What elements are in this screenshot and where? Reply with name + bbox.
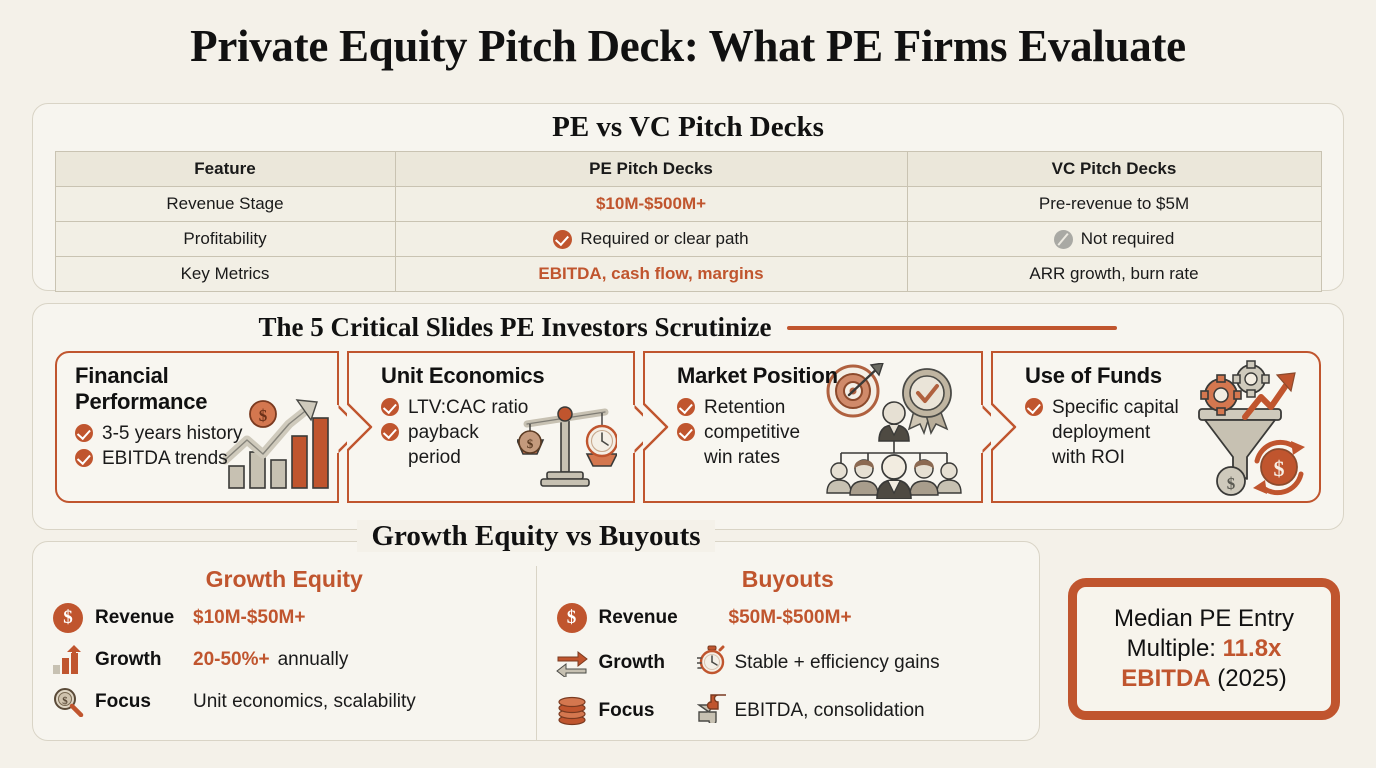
- card-bullet-label: LTV:CAC ratio: [408, 396, 528, 419]
- slide-card-market-position[interactable]: Market Position Retention competitive wi…: [643, 351, 983, 503]
- cell-pe: EBITDA, cash flow, margins: [395, 257, 907, 292]
- metric-row-focus: Focus EBITDA, consolidation: [555, 693, 1022, 729]
- cell-pe-text: $10M-$500M+: [596, 194, 706, 213]
- card-bullet-label: period: [408, 446, 461, 469]
- growth-vs-buyouts-panel: Growth Equity vs Buyouts Growth Equity $…: [32, 541, 1040, 741]
- check-circle-icon: [1025, 398, 1043, 416]
- coin-stack-icon: [555, 696, 589, 726]
- svg-text:$: $: [1227, 474, 1236, 493]
- callout-year: (2025): [1211, 665, 1287, 692]
- metric-row-revenue: $ Revenue $50M-$500M+: [555, 603, 1022, 633]
- cell-vc-text: Not required: [1081, 229, 1175, 249]
- card-bullet-label: win rates: [704, 446, 780, 469]
- metric-row-growth: Growth: [555, 645, 1022, 681]
- card-bullet: EBITDA trends: [75, 447, 275, 470]
- table-row: Profitability Required or clear path Not…: [55, 222, 1321, 257]
- card-bullet: Specific capital: [1025, 396, 1225, 419]
- check-circle-icon: [381, 423, 399, 441]
- callout-line2-prefix: Multiple:: [1127, 635, 1223, 662]
- metric-value: Unit economics, scalability: [193, 691, 416, 713]
- table-header-row: Feature PE Pitch Decks VC Pitch Decks: [55, 152, 1321, 187]
- card-bullet-label: with ROI: [1052, 446, 1125, 469]
- card-bullet-cont: deployment: [1025, 421, 1225, 444]
- cell-vc: Pre-revenue to $5M: [907, 187, 1321, 222]
- svg-text:$: $: [62, 695, 68, 707]
- card-bullet-label: deployment: [1052, 421, 1150, 444]
- chevron-notch-icon: [347, 403, 373, 451]
- growth-equity-column: Growth Equity $ Revenue $10M-$50M+: [33, 566, 536, 740]
- magnifier-dollar-icon: $: [51, 687, 85, 717]
- puzzle-piece-icon: [697, 693, 727, 729]
- growth-vs-buyouts-heading: Growth Equity vs Buyouts: [33, 520, 1039, 553]
- slide-card-row: Financial Performance 3-5 years history …: [33, 343, 1343, 503]
- critical-slides-panel: The 5 Critical Slides PE Investors Scrut…: [32, 303, 1344, 530]
- metric-label: Revenue: [599, 607, 687, 629]
- slide-card-financial-performance[interactable]: Financial Performance 3-5 years history …: [55, 351, 339, 503]
- card-bullet: LTV:CAC ratio: [381, 396, 581, 419]
- dollar-coin-icon: $: [51, 603, 85, 633]
- metric-value: $50M-$500M+: [697, 607, 852, 629]
- metric-row-revenue: $ Revenue $10M-$50M+: [51, 603, 518, 633]
- card-bullet: Retention: [677, 396, 877, 419]
- cell-pe-text: Required or clear path: [580, 229, 748, 249]
- metric-label: Growth: [599, 652, 687, 674]
- column-header-vc: VC Pitch Decks: [907, 152, 1321, 187]
- check-circle-icon: [677, 423, 695, 441]
- card-bullet: payback: [381, 421, 581, 444]
- card-bullet: 3-5 years history: [75, 422, 275, 445]
- critical-slides-heading: The 5 Critical Slides PE Investors Scrut…: [259, 312, 772, 343]
- cell-vc: Not required: [907, 222, 1321, 257]
- cell-feature: Profitability: [55, 222, 395, 257]
- card-title: Use of Funds: [1025, 363, 1225, 389]
- dollar-coin-icon: $: [555, 603, 589, 633]
- cell-pe: Required or clear path: [395, 222, 907, 257]
- cell-vc: ARR growth, burn rate: [907, 257, 1321, 292]
- card-bullet-label: payback: [408, 421, 479, 444]
- pe-vs-vc-panel: PE vs VC Pitch Decks Feature PE Pitch De…: [32, 103, 1344, 291]
- card-bullet-label: 3-5 years history: [102, 422, 242, 445]
- metric-row-growth: Growth 20-50%+ annually: [51, 645, 518, 675]
- metric-label: Focus: [599, 700, 687, 722]
- card-bullet-label: Specific capital: [1052, 396, 1179, 419]
- page-title: Private Equity Pitch Deck: What PE Firms…: [0, 0, 1376, 69]
- metric-label: Focus: [95, 691, 183, 713]
- metric-label: Revenue: [95, 607, 183, 629]
- column-heading: Buyouts: [555, 566, 1022, 593]
- slide-card-use-of-funds[interactable]: Use of Funds Specific capital deployment…: [991, 351, 1321, 503]
- cell-feature: Revenue Stage: [55, 187, 395, 222]
- slide-card-unit-economics[interactable]: Unit Economics LTV:CAC ratio payback per…: [347, 351, 635, 503]
- metric-value: EBITDA, consolidation: [697, 693, 925, 729]
- column-header-feature: Feature: [55, 152, 395, 187]
- cell-pe: $10M-$500M+: [395, 187, 907, 222]
- card-bullet-label: Retention: [704, 396, 785, 419]
- cell-feature: Key Metrics: [55, 257, 395, 292]
- stopwatch-icon: [697, 645, 727, 681]
- card-bullet: competitive: [677, 421, 877, 444]
- check-circle-icon: [381, 398, 399, 416]
- callout-multiple-value: 11.8x: [1223, 635, 1282, 662]
- header-rule: [787, 326, 1117, 330]
- table-row: Key Metrics EBITDA, cash flow, margins A…: [55, 257, 1321, 292]
- card-title: Unit Economics: [381, 363, 581, 389]
- metric-value: 20-50%+ annually: [193, 649, 348, 671]
- card-title: Market Position: [677, 363, 877, 389]
- prohibited-icon: [1054, 230, 1073, 249]
- bar-chart-up-icon: [51, 645, 85, 675]
- metric-value: Stable + efficiency gains: [697, 645, 940, 681]
- card-bullet-cont: with ROI: [1025, 446, 1225, 469]
- critical-slides-header: The 5 Critical Slides PE Investors Scrut…: [33, 304, 1343, 343]
- exchange-arrows-icon: [555, 649, 589, 677]
- metric-value: $10M-$50M+: [193, 607, 305, 629]
- cell-pe-text: EBITDA, cash flow, margins: [538, 264, 763, 283]
- column-header-pe: PE Pitch Decks: [395, 152, 907, 187]
- card-title: Financial Performance: [75, 363, 275, 415]
- chevron-notch-icon: [991, 403, 1017, 451]
- check-circle-icon: [677, 398, 695, 416]
- median-multiple-callout: Median PE Entry Multiple: 11.8x EBITDA (…: [1068, 578, 1340, 720]
- metric-row-focus: $ Focus Unit economics, scalability: [51, 687, 518, 717]
- table-row: Revenue Stage $10M-$500M+ Pre-revenue to…: [55, 187, 1321, 222]
- card-bullet-cont: period: [381, 446, 581, 469]
- svg-text:$: $: [1274, 456, 1285, 481]
- pe-vs-vc-table: Feature PE Pitch Decks VC Pitch Decks Re…: [55, 151, 1322, 292]
- callout-line1: Median PE Entry: [1114, 605, 1294, 632]
- metric-label: Growth: [95, 649, 183, 671]
- check-circle-icon: [75, 424, 93, 442]
- buyouts-column: Buyouts $ Revenue $50M-$500M+ Growth: [536, 566, 1040, 740]
- card-bullet-label: competitive: [704, 421, 800, 444]
- chevron-notch-icon: [643, 403, 669, 451]
- check-circle-icon: [553, 230, 572, 249]
- column-heading: Growth Equity: [51, 566, 518, 593]
- pe-vs-vc-heading: PE vs VC Pitch Decks: [33, 111, 1343, 144]
- callout-metric: EBITDA: [1121, 665, 1210, 692]
- card-bullet-label: EBITDA trends: [102, 447, 228, 470]
- check-circle-icon: [75, 449, 93, 467]
- card-bullet-cont: win rates: [677, 446, 877, 469]
